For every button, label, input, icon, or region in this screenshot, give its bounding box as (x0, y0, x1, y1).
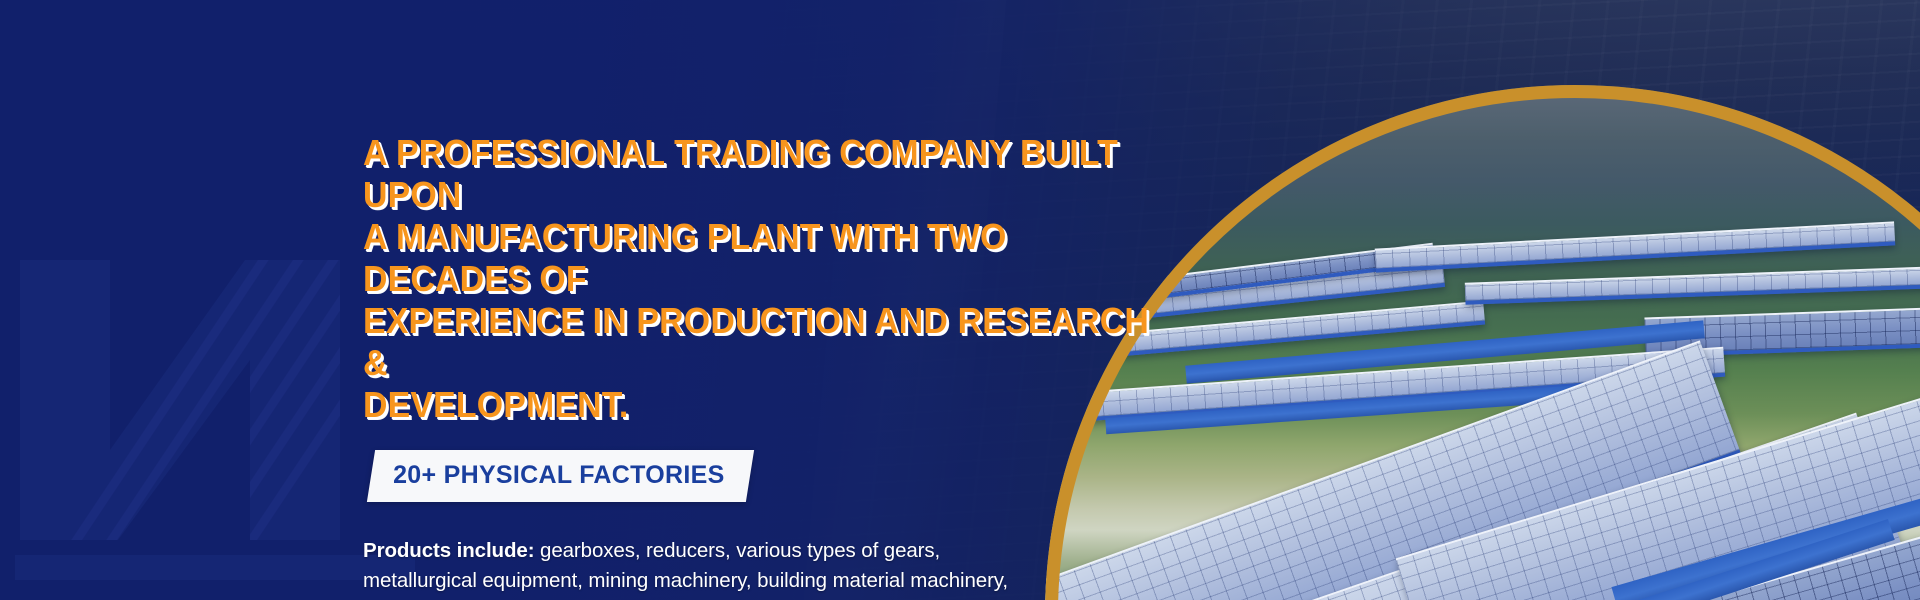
badge-label: 20+ PHYSICAL FACTORIES (393, 463, 724, 488)
roof (1465, 263, 1920, 305)
status-badge: 20+ PHYSICAL FACTORIES (367, 450, 755, 502)
headline: A PROFESSIONAL TRADING COMPANY BUILT UPO… (363, 132, 1153, 426)
products-lead-label: Products include: (363, 539, 534, 562)
banner-content: A PROFESSIONAL TRADING COMPANY BUILT UPO… (363, 132, 1203, 600)
roof (1375, 221, 1896, 272)
products-description: Products include: gearboxes, reducers, v… (363, 536, 1035, 600)
promo-banner: A PROFESSIONAL TRADING COMPANY BUILT UPO… (0, 0, 1920, 600)
